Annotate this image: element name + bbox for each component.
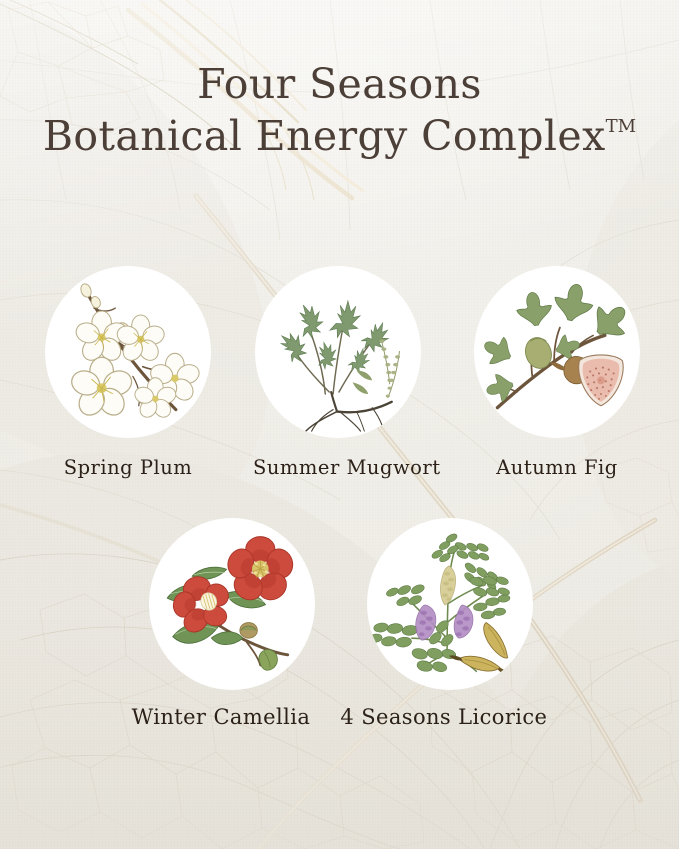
title-line-1: Four Seasons bbox=[0, 64, 679, 105]
ingredient-card-licorice bbox=[365, 518, 535, 690]
ingredient-label-winter-camellia: Winter Camellia bbox=[132, 705, 311, 729]
ingredient-card-winter-camellia bbox=[147, 518, 317, 690]
ingredient-label-autumn-fig: Autumn Fig bbox=[472, 456, 642, 479]
licorice-icon bbox=[367, 518, 533, 690]
ingredient-label-licorice: 4 Seasons Licorice bbox=[340, 705, 547, 729]
title-line-2-text: Botanical Energy Complex bbox=[43, 112, 606, 160]
fig-icon bbox=[474, 266, 640, 438]
mugwort-icon bbox=[255, 266, 421, 438]
ingredient-labels-row-2: Winter Camellia 4 Seasons Licorice bbox=[0, 705, 679, 729]
ingredient-card-summer-mugwort: Summer Mugwort bbox=[253, 266, 423, 479]
camellia-icon bbox=[149, 518, 315, 690]
caption-spacer bbox=[317, 705, 333, 729]
trademark-symbol: TM bbox=[606, 116, 637, 137]
page-title: Four Seasons Botanical Energy ComplexTM bbox=[0, 64, 679, 157]
ingredient-label-spring-plum: Spring Plum bbox=[43, 456, 213, 479]
title-line-2: Botanical Energy ComplexTM bbox=[0, 116, 679, 157]
ingredient-card-autumn-fig: Autumn Fig bbox=[472, 266, 642, 479]
ingredient-label-summer-mugwort: Summer Mugwort bbox=[253, 456, 423, 479]
poster-canvas: Four Seasons Botanical Energy ComplexTM bbox=[0, 0, 679, 849]
ingredient-card-spring-plum: Spring Plum bbox=[43, 266, 213, 479]
plum-blossom-icon bbox=[45, 266, 211, 438]
ingredient-row-1: Spring Plum bbox=[0, 266, 679, 481]
